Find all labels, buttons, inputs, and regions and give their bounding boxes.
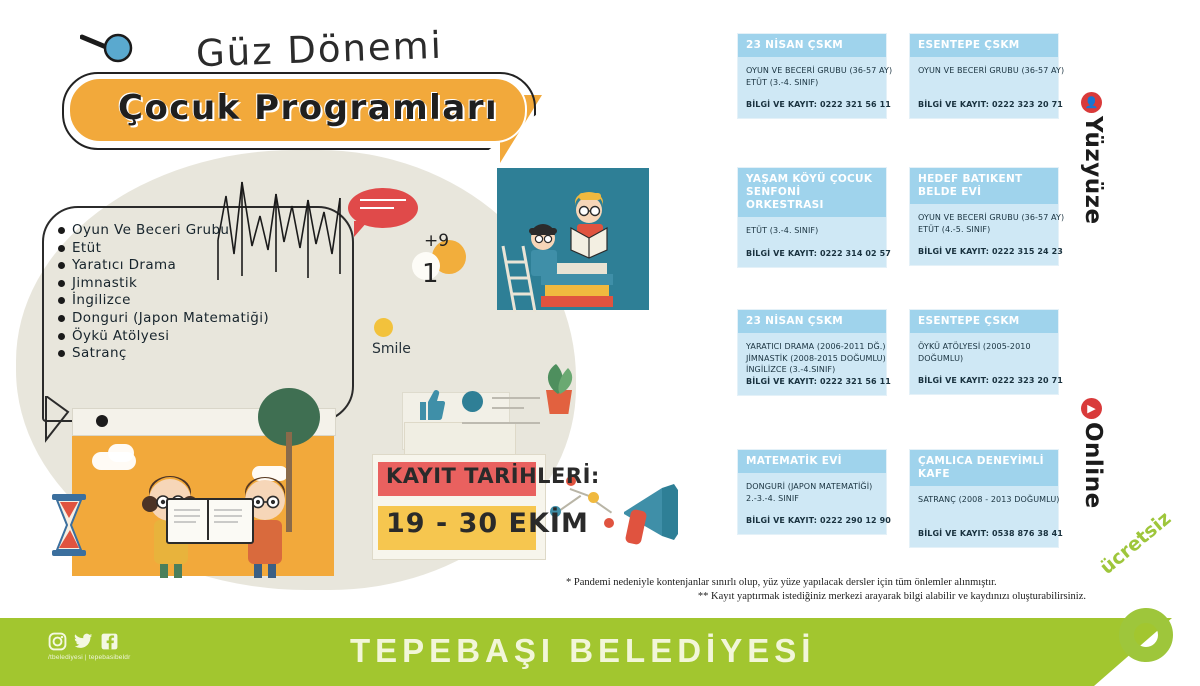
- card-line: ETÜT (3.-4. SINIF): [746, 225, 878, 237]
- card-line: [918, 77, 1050, 89]
- network-dot: [588, 492, 599, 503]
- card-line: YARATICI DRAMA (2006-2011 DĞ.): [746, 341, 878, 353]
- social-links[interactable]: [48, 632, 119, 651]
- instagram-icon[interactable]: [48, 632, 67, 651]
- free-badge-label: ücretsiz: [1096, 507, 1175, 578]
- list-item: Oyun Ve Beceri Grubu: [72, 222, 269, 240]
- magnifier-icon: [80, 33, 140, 63]
- card-matematik-evi[interactable]: MATEMATİK EVİ DONGURİ (JAPON MATEMATİĞİ)…: [738, 450, 886, 534]
- page-title: Çocuk Programları: [118, 88, 498, 128]
- card-contact: BİLGİ VE KAYIT: 0222 314 02 57: [746, 249, 878, 258]
- book-text-lines: [166, 498, 250, 540]
- list-item: Satranç: [72, 345, 269, 363]
- footnotes: * Pandemi nedeniyle kontenjanlar sınırlı…: [566, 576, 1086, 604]
- card-line: 2.-3.-4. SINIF: [746, 493, 878, 505]
- avatar-line: [492, 407, 524, 409]
- one-label: 1: [422, 259, 439, 289]
- list-item: Etüt: [72, 240, 269, 258]
- smile-label: Smile: [372, 341, 411, 357]
- card-title: ESENTEPE ÇSKM: [910, 34, 1058, 57]
- card-body: OYUN VE BECERİ GRUBU (36-57 AY) ETÜT (4.…: [910, 204, 1058, 265]
- browser-dot-icon: [96, 415, 108, 427]
- card-title: HEDEF BATIKENT BELDE EVİ: [910, 168, 1058, 204]
- free-badge-ring: [1119, 608, 1173, 662]
- card-esentepe-cskm-2[interactable]: ESENTEPE ÇSKM ÖYKÜ ATÖLYESİ (2005-2010 D…: [910, 310, 1058, 394]
- card-contact: BİLGİ VE KAYIT: 0222 321 56 11: [746, 100, 878, 109]
- card-body: SATRANÇ (2008 - 2013 DOĞUMLU) BİLGİ VE K…: [910, 486, 1058, 547]
- list-item: Öykü Atölyesi: [72, 328, 269, 346]
- plant-leaves-icon: [536, 360, 582, 394]
- cloud-icon: [108, 444, 134, 462]
- card-line: OYUN VE BECERİ GRUBU (36-57 AY): [746, 65, 878, 77]
- card-line: SATRANÇ (2008 - 2013 DOĞUMLU): [918, 494, 1050, 506]
- social-handles: /tbelediyesi | tepebasibeldr: [48, 654, 130, 661]
- card-line: [918, 506, 1050, 518]
- list-item: Jimnastik: [72, 275, 269, 293]
- kids-reading-illustration: [497, 180, 649, 312]
- card-body: DONGURİ (JAPON MATEMATİĞİ) 2.-3.-4. SINI…: [738, 473, 886, 534]
- hourglass-icon: [48, 492, 90, 558]
- card-line: JİMNASTİK (2008-2015 DOĞUMLU): [746, 353, 878, 365]
- kicker-guz-donemi: Güz Dönemi: [195, 24, 443, 76]
- card-title: 23 NİSAN ÇSKM: [738, 310, 886, 333]
- card-contact: BİLGİ VE KAYIT: 0222 290 12 90: [746, 516, 878, 525]
- card-line: OYUN VE BECERİ GRUBU (36-57 AY): [918, 65, 1050, 77]
- avatar-line: [462, 422, 540, 424]
- facebook-icon[interactable]: [100, 632, 119, 651]
- twitter-icon[interactable]: [74, 632, 93, 651]
- card-line: İNGİLİZCE (3.-4.SINIF): [746, 364, 878, 376]
- card-title: ESENTEPE ÇSKM: [910, 310, 1058, 333]
- footnote-1: * Pandemi nedeniyle kontenjanlar sınırlı…: [566, 576, 1086, 590]
- person-badge-icon: 👤: [1081, 92, 1102, 113]
- card-23-nisan-cskm-2[interactable]: 23 NİSAN ÇSKM YARATICI DRAMA (2006-2011 …: [738, 310, 886, 395]
- bubble-tail-icon: [34, 396, 74, 444]
- card-contact: BİLGİ VE KAYIT: 0222 323 20 71: [918, 376, 1050, 385]
- avatar: [462, 391, 483, 412]
- card-line: ETÜT (3.-4. SINIF): [746, 77, 878, 89]
- card-yasam-koyu-orkestra[interactable]: YAŞAM KÖYÜ ÇOCUK SENFONİ ORKESTRASI ETÜT…: [738, 168, 886, 267]
- card-body: ÖYKÜ ATÖLYESİ (2005-2010 DOĞUMLU) BİLGİ …: [910, 333, 1058, 394]
- card-title: ÇAMLICA DENEYİMLİ KAFE: [910, 450, 1058, 486]
- card-23-nisan-cskm[interactable]: 23 NİSAN ÇSKM OYUN VE BECERİ GRUBU (36-5…: [738, 34, 886, 118]
- megaphone-icon: [608, 480, 684, 552]
- footer-title: TEPEBAŞI BELEDİYESİ: [350, 632, 815, 670]
- footnote-2: ** Kayıt yaptırmak istediğiniz merkezi a…: [566, 590, 1086, 604]
- card-body: OYUN VE BECERİ GRUBU (36-57 AY) ETÜT (3.…: [738, 57, 886, 118]
- smiley-icon: [374, 318, 393, 337]
- list-item: Yaratıcı Drama: [72, 257, 269, 275]
- mode-label-online: Online: [1080, 422, 1106, 509]
- avatar-line: [492, 397, 540, 399]
- card-title: 23 NİSAN ÇSKM: [738, 34, 886, 57]
- card-line: DONGURİ (JAPON MATEMATİĞİ): [746, 481, 878, 493]
- card-title: YAŞAM KÖYÜ ÇOCUK SENFONİ ORKESTRASI: [738, 168, 886, 217]
- card-contact: BİLGİ VE KAYIT: 0538 876 38 41: [918, 529, 1050, 538]
- registration-dates-value: 19 - 30 EKİM: [386, 508, 589, 539]
- card-line: OYUN VE BECERİ GRUBU (36-57 AY): [918, 212, 1050, 224]
- card-line: ETÜT (4.-5. SINIF): [918, 224, 1050, 236]
- program-list: Oyun Ve Beceri Grubu Etüt Yaratıcı Drama…: [72, 222, 269, 363]
- card-line: ÖYKÜ ATÖLYESİ (2005-2010: [918, 341, 1050, 353]
- card-contact: BİLGİ VE KAYIT: 0222 315 24 23: [918, 247, 1050, 256]
- mode-label-face-to-face: Yüzyüze: [1080, 116, 1106, 225]
- card-contact: BİLGİ VE KAYIT: 0222 323 20 71: [918, 100, 1050, 109]
- plus-nine-label: +9: [424, 231, 449, 251]
- thumbs-up-icon: [416, 388, 446, 422]
- card-contact: BİLGİ VE KAYIT: 0222 321 56 11: [746, 377, 878, 386]
- card-camlica-deneyimli-kafe[interactable]: ÇAMLICA DENEYİMLİ KAFE SATRANÇ (2008 - 2…: [910, 450, 1058, 547]
- list-item: Donguri (Japon Matematiği): [72, 310, 269, 328]
- play-badge-icon: ▶: [1081, 398, 1102, 419]
- registration-dates-label: KAYIT TARİHLERİ:: [386, 464, 600, 488]
- list-item: İngilizce: [72, 292, 269, 310]
- card-body: OYUN VE BECERİ GRUBU (36-57 AY) BİLGİ VE…: [910, 57, 1058, 118]
- card-body: ETÜT (3.-4. SINIF) BİLGİ VE KAYIT: 0222 …: [738, 217, 886, 267]
- card-hedef-batikent-belde-evi[interactable]: HEDEF BATIKENT BELDE EVİ OYUN VE BECERİ …: [910, 168, 1058, 265]
- poster-canvas: Güz Dönemi Çocuk Programları Oyun Ve Bec…: [0, 0, 1200, 686]
- bubble-lines-icon: [360, 196, 406, 218]
- card-body: YARATICI DRAMA (2006-2011 DĞ.) JİMNASTİK…: [738, 333, 886, 395]
- card-title: MATEMATİK EVİ: [738, 450, 886, 473]
- card-esentepe-cskm-1[interactable]: ESENTEPE ÇSKM OYUN VE BECERİ GRUBU (36-5…: [910, 34, 1058, 118]
- card-line: DOĞUMLU): [918, 353, 1050, 365]
